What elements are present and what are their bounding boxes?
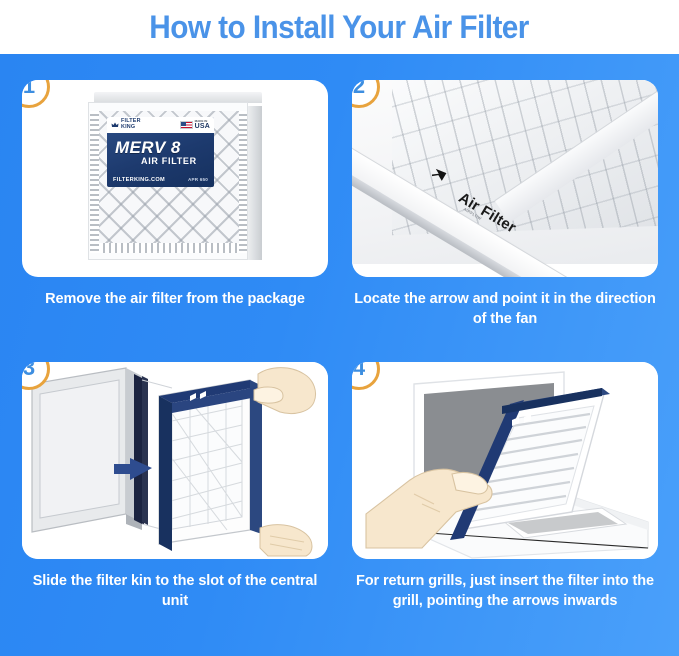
filter-pleat-edge-right	[239, 111, 248, 253]
made-in-usa-mark: MADE IN USA	[180, 120, 210, 130]
brand-line-2: KING	[121, 124, 135, 130]
label-header: FILTER KING MADE IN	[107, 117, 214, 133]
filter-front-face: FILTER KING MADE IN	[88, 102, 248, 260]
made-in-usa-text: MADE IN USA	[195, 120, 210, 130]
step-3: 3 Slide the filter kin to the slot of th…	[22, 362, 328, 611]
merv-rating: MERV 8	[115, 139, 181, 156]
step-2: Air Filter AIRFLOW 2 Locate the arrow an…	[352, 80, 658, 329]
step-3-caption: Slide the filter kin to the slot of the …	[22, 571, 328, 611]
website-text: FILTERKING.COM	[113, 177, 165, 183]
usa-flag-icon	[180, 121, 193, 129]
step-2-artwork: Air Filter AIRFLOW	[352, 80, 658, 277]
step-1-artwork: FILTER KING MADE IN	[22, 80, 328, 277]
steps-grid: FILTER KING MADE IN	[0, 54, 679, 656]
step-4-caption: For return grills, just insert the filte…	[352, 571, 658, 611]
label-footer: FILTERKING.COM APR 650	[107, 177, 214, 183]
steps-canvas: FILTER KING MADE IN	[0, 54, 679, 656]
country-label: USA	[195, 123, 210, 130]
step-4-artwork	[352, 362, 658, 559]
return-grill-illustration	[352, 362, 658, 559]
product-label: FILTER KING MADE IN	[107, 117, 214, 187]
step-2-number: 2	[353, 80, 365, 97]
filter-pleat-edge-bottom	[99, 243, 239, 253]
crown-icon	[111, 121, 119, 129]
air-filter-product-image: FILTER KING MADE IN	[88, 92, 263, 264]
header: How to Install Your Air Filter	[0, 0, 679, 54]
step-1-number: 1	[23, 80, 35, 97]
step-2-card: Air Filter AIRFLOW 2	[352, 80, 658, 277]
step-1-card: FILTER KING MADE IN	[22, 80, 328, 277]
step-3-artwork	[22, 362, 328, 559]
step-1: FILTER KING MADE IN	[22, 80, 328, 309]
brand-text: FILTER KING	[121, 119, 141, 130]
filter-type: AIR FILTER	[141, 157, 197, 166]
page-title: How to Install Your Air Filter	[150, 11, 530, 43]
hvac-unit-slot	[32, 368, 148, 532]
filter-slot-illustration	[22, 362, 328, 559]
step-4: 4 For return grills, just insert the fil…	[352, 362, 658, 611]
filter-king-logo: FILTER KING	[111, 119, 141, 130]
step-1-caption: Remove the air filter from the package	[22, 289, 328, 309]
step-4-number: 4	[353, 362, 365, 379]
pleated-filter-photo: Air Filter AIRFLOW	[352, 80, 658, 277]
step-3-card: 3	[22, 362, 328, 559]
filter-pleat-edge-left	[90, 111, 99, 253]
filter-side-edge	[248, 106, 262, 260]
step-4-card: 4	[352, 362, 658, 559]
apr-code: APR 650	[188, 177, 208, 183]
step-2-caption: Locate the arrow and point it in the dir…	[352, 289, 658, 329]
infographic-page: How to Install Your Air Filter	[0, 0, 679, 656]
air-filter-panel	[159, 380, 262, 551]
step-3-number: 3	[23, 362, 35, 379]
